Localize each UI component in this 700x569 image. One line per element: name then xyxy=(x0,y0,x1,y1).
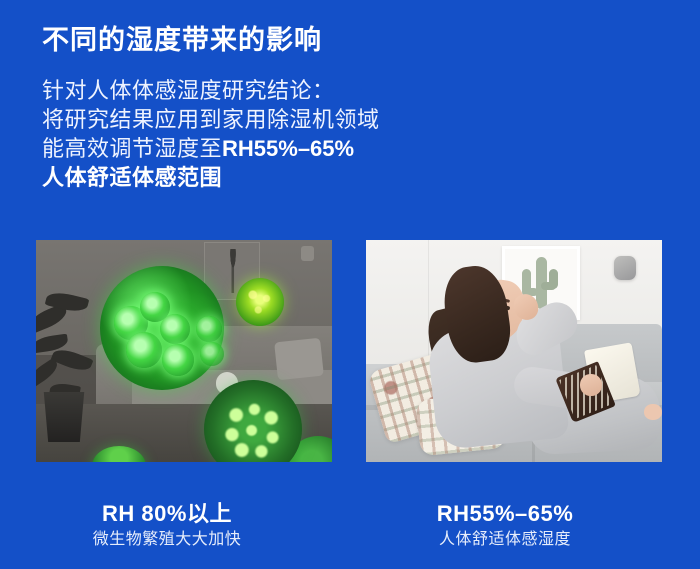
caption-comfort-humidity: RH55%–65% 人体舒适体感湿度 xyxy=(340,500,670,552)
caption-title: RH55%–65% xyxy=(340,500,670,528)
intro-line-3-prefix: 能高效调节湿度至 xyxy=(42,136,222,161)
intro-line-4: 人体舒适体感范围 xyxy=(42,163,562,192)
microbe-cell xyxy=(200,342,224,366)
wall-speaker-icon xyxy=(301,246,314,261)
intro-line-3: 能高效调节湿度至RH55%–65% xyxy=(42,134,562,163)
caption-subtitle: 微生物繁殖大大加快 xyxy=(2,528,332,552)
plant-pot xyxy=(42,392,86,442)
hand-holding-book xyxy=(580,374,602,396)
cushion xyxy=(274,338,324,381)
microbe-cell xyxy=(162,344,194,376)
intro-text-block: 针对人体体感湿度研究结论： 将研究结果应用到家用除湿机领域 能高效调节湿度至RH… xyxy=(42,76,562,192)
microbe-cell xyxy=(160,314,190,344)
photo-comfort-humidity xyxy=(366,240,662,462)
foot xyxy=(644,404,662,420)
page-title: 不同的湿度带来的影响 xyxy=(42,18,322,57)
woman-reading xyxy=(410,258,660,462)
humidity-infographic: 不同的湿度带来的影响 针对人体体感湿度研究结论： 将研究结果应用到家用除湿机领域… xyxy=(0,0,700,569)
caption-high-humidity: RH 80%以上 微生物繁殖大大加快 xyxy=(2,500,332,552)
microbe-cell xyxy=(196,316,222,342)
intro-line-3-highlight: RH55%–65% xyxy=(222,136,354,161)
microbe-cluster-large xyxy=(100,266,224,390)
caption-title: RH 80%以上 xyxy=(2,500,332,528)
microbe-cell xyxy=(126,332,162,368)
dark-living-room-scene xyxy=(36,240,332,462)
caption-subtitle: 人体舒适体感湿度 xyxy=(340,528,670,552)
bright-living-room-scene xyxy=(366,240,662,462)
intro-line-2: 将研究结果应用到家用除湿机领域 xyxy=(42,105,562,134)
intro-line-1: 针对人体体感湿度研究结论： xyxy=(42,76,562,105)
plant-leaf xyxy=(50,345,93,375)
potted-plant xyxy=(36,292,104,442)
photo-high-humidity xyxy=(36,240,332,462)
microbe-cluster-top xyxy=(236,278,284,326)
